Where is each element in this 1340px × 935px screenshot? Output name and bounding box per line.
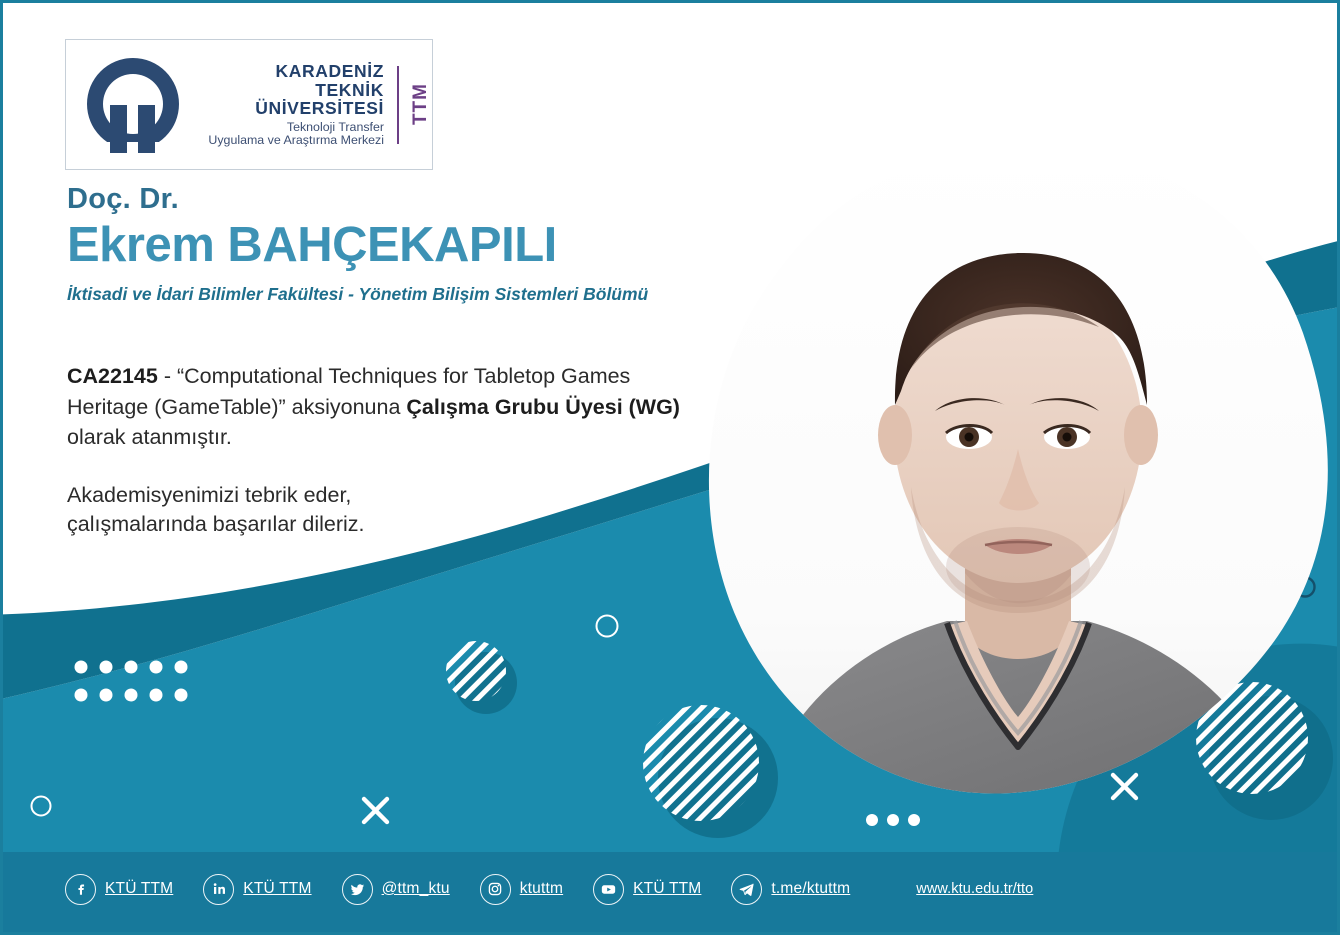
social-link-facebook[interactable]: KTÜ TTM — [65, 874, 173, 905]
social-link-telegram[interactable]: t.me/ktuttm — [731, 874, 850, 905]
telegram-icon — [731, 874, 762, 905]
logo-ttm-badge: TTM — [406, 83, 432, 125]
social-link-linkedin[interactable]: KTÜ TTM — [203, 874, 311, 905]
academic-title: Doç. Dr. — [67, 185, 707, 214]
youtube-icon — [593, 874, 624, 905]
social-label-instagram: ktuttm — [520, 880, 563, 898]
logo-line-3: Teknoloji Transfer — [192, 121, 384, 134]
logo-divider — [397, 66, 399, 144]
social-label-twitter: @ttm_ktu — [382, 880, 450, 898]
congrats-line-2: çalışmalarında başarılar dileriz. — [67, 510, 587, 539]
social-label-linkedin: KTÜ TTM — [243, 880, 311, 898]
poster-canvas: KARADENİZ TEKNİK ÜNİVERSİTESİ Teknoloji … — [0, 0, 1340, 935]
logo-line-1: KARADENİZ — [192, 62, 384, 81]
announcement-body: CA22145 - “Computational Techniques for … — [67, 361, 687, 453]
announcement-header: Doç. Dr. Ekrem BAHÇEKAPILI İktisadi ve İ… — [67, 185, 707, 306]
avatar — [697, 143, 1337, 803]
department-label: İktisadi ve İdari Bilimler Fakültesi - Y… — [67, 283, 687, 306]
facebook-icon — [65, 874, 96, 905]
social-link-youtube[interactable]: KTÜ TTM — [593, 874, 701, 905]
portrait-blob — [697, 143, 1337, 803]
congrats-line-1: Akademisyenimizi tebrik eder, — [67, 481, 587, 510]
role-label: Çalışma Grubu Üyesi (WG) — [406, 395, 680, 419]
instagram-icon — [480, 874, 511, 905]
congratulations-text: Akademisyenimizi tebrik eder, çalışmalar… — [67, 481, 587, 539]
social-label-telegram: t.me/ktuttm — [771, 880, 850, 898]
footer-social-bar: KTÜ TTM KTÜ TTM @ttm_ktu — [3, 846, 1340, 932]
website-link[interactable]: www.ktu.edu.tr/tto — [916, 881, 1033, 897]
ktu-emblem-icon — [74, 50, 192, 160]
social-link-twitter[interactable]: @ttm_ktu — [342, 874, 450, 905]
logo-line-4: Uygulama ve Araştırma Merkezi — [192, 134, 384, 147]
social-link-instagram[interactable]: ktuttm — [480, 874, 563, 905]
action-code: CA22145 — [67, 364, 158, 388]
page-title: Ekrem BAHÇEKAPILI — [67, 218, 707, 273]
social-label-facebook: KTÜ TTM — [105, 880, 173, 898]
social-label-youtube: KTÜ TTM — [633, 880, 701, 898]
twitter-icon — [342, 874, 373, 905]
dot-trio-icon — [866, 814, 920, 826]
linkedin-icon — [203, 874, 234, 905]
ktu-ttm-logo: KARADENİZ TEKNİK ÜNİVERSİTESİ Teknoloji … — [65, 39, 433, 170]
logo-line-2: TEKNİK ÜNİVERSİTESİ — [192, 81, 384, 118]
body-text-part2: olarak atanmıştır. — [67, 425, 232, 449]
logo-wordmark: KARADENİZ TEKNİK ÜNİVERSİTESİ Teknoloji … — [192, 62, 390, 147]
